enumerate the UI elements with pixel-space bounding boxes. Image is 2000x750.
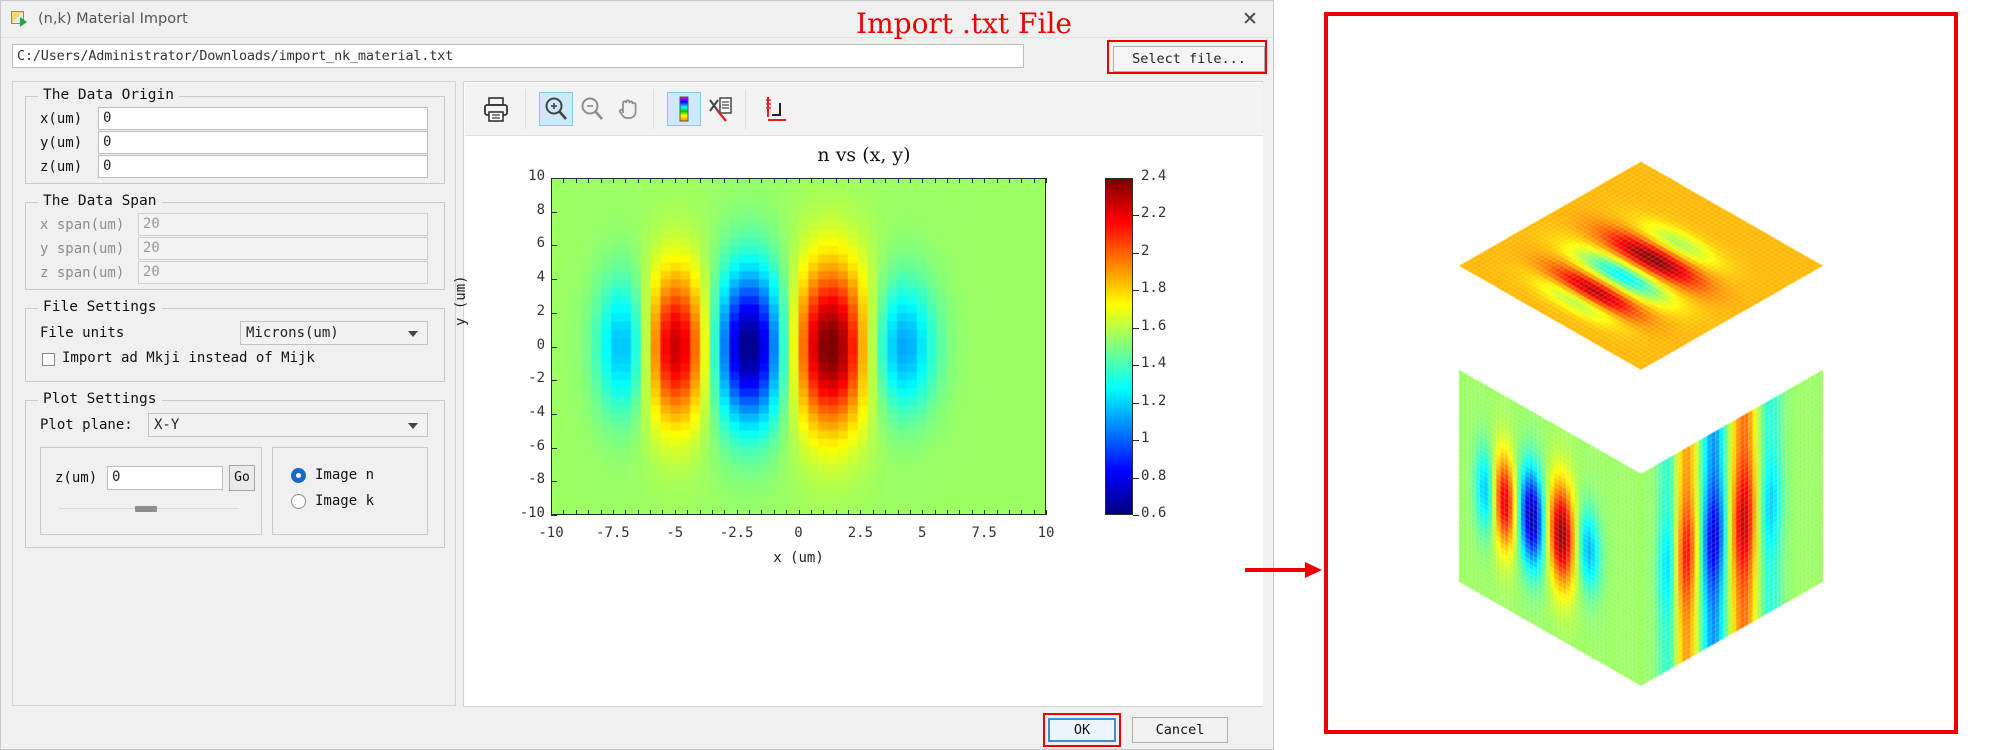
axis-minor-tick — [650, 178, 651, 183]
axis-minor-tick — [885, 178, 886, 183]
input-origin-z[interactable]: 0 — [98, 155, 428, 178]
zoom-out-icon[interactable] — [575, 92, 609, 126]
axis-minor-tick — [588, 510, 589, 515]
y-axis-tick-label: 8 — [485, 202, 545, 218]
axis-minor-tick — [761, 510, 762, 515]
3d-material-cube-preview[interactable] — [1324, 12, 1958, 734]
axis-minor-tick — [625, 510, 626, 515]
axis-minor-tick — [576, 178, 577, 183]
axis-minor-tick — [860, 510, 861, 515]
y-axis-tick-label: 10 — [485, 168, 545, 184]
y-axis-tick-label: -6 — [485, 438, 545, 454]
axis-minor-tick — [749, 510, 750, 515]
radio-image-n[interactable] — [291, 468, 306, 483]
plot-panel: n vs (x, y) y (um) x (um) 2.42.221.81.61… — [463, 81, 1263, 707]
select-plot-plane-value: X-Y — [154, 417, 179, 433]
plot-toolbar — [465, 83, 1263, 136]
axis-minor-tick — [860, 178, 861, 183]
select-plot-plane[interactable]: X-Y — [148, 413, 428, 437]
axis-minor-tick — [563, 178, 564, 183]
select-file-button[interactable]: Select file... — [1113, 46, 1265, 72]
colorbar-tick-label: 0.6 — [1141, 505, 1166, 521]
axis-minor-tick — [613, 510, 614, 515]
y-axis-tick-mark — [551, 448, 557, 449]
axis-minor-tick — [638, 510, 639, 515]
colorbar-tick-label: 2.2 — [1141, 205, 1166, 221]
axis-minor-tick — [675, 510, 676, 515]
axis-minor-tick — [675, 178, 676, 183]
axis-minor-tick — [1009, 510, 1010, 515]
axis-minor-tick — [836, 178, 837, 183]
toolbar-separator — [525, 89, 526, 129]
annotation-headline: Import .txt File — [794, 8, 1134, 40]
axis-minor-tick — [959, 178, 960, 183]
axis-minor-tick — [737, 510, 738, 515]
axis-minor-tick — [563, 510, 564, 515]
input-origin-y[interactable]: 0 — [98, 131, 428, 154]
axis-minor-tick — [576, 510, 577, 515]
chart-title: n vs (x, y) — [465, 144, 1263, 166]
z-slider-thumb[interactable] — [135, 506, 157, 512]
label-origin-y: y(um) — [40, 135, 82, 151]
axis-minor-tick — [551, 510, 552, 515]
axis-minor-tick — [984, 510, 985, 515]
group-legend-file-settings: File Settings — [38, 299, 162, 315]
colorbar-tick-label: 1.8 — [1141, 280, 1166, 296]
y-axis-tick-label: 4 — [485, 269, 545, 285]
subgroup-z-slice: z(um) 0 Go — [40, 447, 262, 535]
y-axis-tick-mark — [551, 515, 557, 516]
x-axis-tick-label: -10 — [521, 525, 581, 541]
nk-material-import-dialog: (n,k) Material Import ✕ C:/Users/Adminis… — [0, 0, 1274, 750]
axis-minor-tick — [601, 510, 602, 515]
label-plot-plane: Plot plane: — [40, 417, 133, 433]
colorbar — [1105, 178, 1133, 515]
axis-minor-tick — [1034, 510, 1035, 515]
colorbar-tick-label: 1 — [1141, 430, 1149, 446]
colorbar-tick-mark — [1133, 515, 1139, 516]
legend-off-icon[interactable] — [703, 92, 737, 126]
axis-minor-tick — [935, 510, 936, 515]
axis-minor-tick — [898, 510, 899, 515]
axis-minor-tick — [774, 178, 775, 183]
axis-minor-tick — [687, 510, 688, 515]
chevron-down-icon — [408, 331, 418, 337]
chevron-down-icon — [408, 423, 418, 429]
radio-image-n-label: Image n — [315, 467, 374, 483]
subgroup-image-mode: Image n Image k — [272, 447, 428, 535]
label-span-x: x span(um) — [40, 217, 124, 233]
axis-minor-tick — [786, 510, 787, 515]
ok-button[interactable]: OK — [1048, 718, 1116, 742]
axis-minor-tick — [551, 178, 552, 183]
colorbar-tick-mark — [1133, 215, 1139, 216]
colorbar-tick-label: 1.6 — [1141, 318, 1166, 334]
axis-minor-tick — [836, 510, 837, 515]
radio-image-k-label: Image k — [315, 493, 374, 509]
axis-minor-tick — [935, 178, 936, 183]
axis-minor-tick — [1021, 178, 1022, 183]
axis-minor-tick — [737, 178, 738, 183]
axis-minor-tick — [972, 510, 973, 515]
axis-minor-tick — [1046, 178, 1047, 183]
axis-minor-tick — [786, 178, 787, 183]
print-icon[interactable] — [479, 92, 513, 126]
label-z-slice: z(um) — [55, 470, 97, 486]
axis-minor-tick — [613, 178, 614, 183]
x-axis-tick-label: 5 — [892, 525, 952, 541]
input-span-y: 20 — [138, 237, 428, 260]
heatmap-axes[interactable] — [551, 178, 1046, 515]
axis-minor-tick — [873, 178, 874, 183]
colormap-icon[interactable] — [667, 92, 701, 126]
x-axis-tick-label: 10 — [1016, 525, 1076, 541]
axis-minor-tick — [811, 178, 812, 183]
x-axis-tick-label: 2.5 — [830, 525, 890, 541]
colorbar-tick-label: 0.8 — [1141, 468, 1166, 484]
group-data-origin: The Data Origin x(um) 0 y(um) 0 z(um) 0 — [25, 96, 445, 184]
axis-minor-tick — [811, 510, 812, 515]
axis-minor-tick — [662, 178, 663, 183]
y-axis-tick-mark — [551, 212, 557, 213]
colorbar-gradient — [1106, 179, 1132, 514]
axis-minor-tick — [774, 510, 775, 515]
y-axis-tick-label: 6 — [485, 235, 545, 251]
axis-minor-tick — [848, 510, 849, 515]
group-data-span: The Data Span x span(um) 20 y span(um) 2… — [25, 202, 445, 290]
axis-minor-tick — [997, 178, 998, 183]
colorbar-tick-label: 1.4 — [1141, 355, 1166, 371]
axis-minor-tick — [625, 178, 626, 183]
group-legend-data-origin: The Data Origin — [38, 87, 179, 103]
colorbar-tick-mark — [1133, 365, 1139, 366]
axis-minor-tick — [638, 178, 639, 183]
input-span-z: 20 — [138, 261, 428, 284]
window-title: (n,k) Material Import — [38, 11, 188, 27]
axis-minor-tick — [1009, 178, 1010, 183]
file-path-row: C:/Users/Administrator/Downloads/import_… — [1, 39, 1273, 75]
axis-minor-tick — [1046, 510, 1047, 515]
axis-minor-tick — [885, 510, 886, 515]
axis-minor-tick — [922, 178, 923, 183]
axis-minor-tick — [898, 178, 899, 183]
axis-minor-tick — [799, 178, 800, 183]
x-axis-tick-label: -5 — [645, 525, 705, 541]
axis-minor-tick — [724, 178, 725, 183]
colorbar-tick-mark — [1133, 290, 1139, 291]
select-file-highlight-box: Select file... — [1107, 40, 1267, 74]
red-arrow-icon — [1245, 562, 1323, 578]
axis-minor-tick — [910, 178, 911, 183]
y-axis-tick-label: 2 — [485, 303, 545, 319]
close-icon[interactable]: ✕ — [1227, 1, 1273, 37]
label-span-y: y span(um) — [40, 241, 124, 257]
colorbar-tick-mark — [1133, 253, 1139, 254]
toolbar-separator — [745, 89, 746, 129]
x-axis-tick-label: 0 — [769, 525, 829, 541]
axis-minor-tick — [1034, 178, 1035, 183]
colorbar-tick-mark — [1133, 403, 1139, 404]
go-button[interactable]: Go — [229, 465, 255, 491]
pan-hand-icon[interactable] — [611, 92, 645, 126]
axis-minor-tick — [823, 510, 824, 515]
y-axis-tick-mark — [551, 347, 557, 348]
colorbar-tick-label: 2.4 — [1141, 168, 1166, 184]
zoom-in-icon[interactable] — [539, 92, 573, 126]
checkbox-import-mkji[interactable] — [42, 353, 55, 366]
settings-panel: The Data Origin x(um) 0 y(um) 0 z(um) 0 … — [12, 81, 456, 706]
y-axis-tick-label: -8 — [485, 471, 545, 487]
group-plot-settings: Plot Settings Plot plane: X-Y z(um) 0 Go… — [25, 400, 445, 548]
axis-minor-tick — [687, 178, 688, 183]
label-span-z: z span(um) — [40, 265, 124, 281]
select-file-units[interactable]: Microns(um) — [240, 321, 428, 345]
cancel-button[interactable]: Cancel — [1132, 717, 1228, 743]
axis-minor-tick — [823, 178, 824, 183]
axis-minor-tick — [700, 510, 701, 515]
axis-minor-tick — [749, 178, 750, 183]
y-axis-tick-mark — [551, 313, 557, 314]
axis-minor-tick — [984, 178, 985, 183]
axis-minor-tick — [959, 510, 960, 515]
group-legend-plot-settings: Plot Settings — [38, 391, 162, 407]
y-axis-tick-label: -2 — [485, 370, 545, 386]
radio-image-k[interactable] — [291, 494, 306, 509]
axis-minor-tick — [848, 178, 849, 183]
heatmap-image — [552, 179, 1045, 514]
input-span-x: 20 — [138, 213, 428, 236]
axis-minor-tick — [662, 510, 663, 515]
axis-minor-tick — [588, 178, 589, 183]
y-axis-tick-label: -4 — [485, 404, 545, 420]
y-axis-tick-mark — [551, 245, 557, 246]
file-path-input[interactable]: C:/Users/Administrator/Downloads/import_… — [12, 44, 1024, 68]
axis-scale-icon[interactable] — [759, 92, 793, 126]
input-z-slice[interactable]: 0 — [107, 466, 223, 490]
x-axis-label: x (um) — [551, 550, 1046, 566]
label-origin-x: x(um) — [40, 111, 82, 127]
axis-minor-tick — [712, 510, 713, 515]
axis-minor-tick — [712, 178, 713, 183]
label-origin-z: z(um) — [40, 159, 82, 175]
y-axis-tick-mark — [551, 481, 557, 482]
checkbox-import-mkji-label: Import ad Mkji instead of Mijk — [62, 350, 315, 366]
axis-minor-tick — [1021, 510, 1022, 515]
axis-minor-tick — [761, 178, 762, 183]
colorbar-tick-mark — [1133, 328, 1139, 329]
select-file-units-value: Microns(um) — [246, 325, 339, 341]
axis-minor-tick — [650, 510, 651, 515]
input-origin-x[interactable]: 0 — [98, 107, 428, 130]
x-axis-tick-label: -2.5 — [707, 525, 767, 541]
axis-minor-tick — [922, 510, 923, 515]
plot-canvas[interactable]: n vs (x, y) y (um) x (um) 2.42.221.81.61… — [465, 136, 1263, 706]
axis-minor-tick — [724, 510, 725, 515]
y-axis-tick-mark — [551, 414, 557, 415]
x-axis-tick-label: 7.5 — [954, 525, 1014, 541]
x-axis-tick-label: -7.5 — [583, 525, 643, 541]
material-import-icon — [11, 10, 29, 28]
axis-minor-tick — [601, 178, 602, 183]
y-axis-tick-label: -10 — [485, 505, 545, 521]
label-file-units: File units — [40, 325, 124, 341]
axis-minor-tick — [799, 510, 800, 515]
y-axis-tick-label: 0 — [485, 337, 545, 353]
cube-canvas — [1328, 16, 1954, 730]
axis-minor-tick — [997, 510, 998, 515]
axis-minor-tick — [873, 510, 874, 515]
colorbar-tick-label: 2 — [1141, 243, 1149, 259]
axis-minor-tick — [700, 178, 701, 183]
y-axis-tick-mark — [551, 279, 557, 280]
group-legend-data-span: The Data Span — [38, 193, 162, 209]
group-file-settings: File Settings File units Microns(um) Imp… — [25, 308, 445, 382]
colorbar-tick-mark — [1133, 440, 1139, 441]
y-axis-label: y (um) — [453, 275, 469, 326]
colorbar-tick-label: 1.2 — [1141, 393, 1166, 409]
axis-minor-tick — [947, 178, 948, 183]
colorbar-tick-mark — [1133, 478, 1139, 479]
axis-minor-tick — [947, 510, 948, 515]
y-axis-tick-mark — [551, 380, 557, 381]
axis-minor-tick — [910, 510, 911, 515]
toolbar-separator — [653, 89, 654, 129]
axis-minor-tick — [972, 178, 973, 183]
ok-highlight-box: OK — [1043, 713, 1121, 747]
